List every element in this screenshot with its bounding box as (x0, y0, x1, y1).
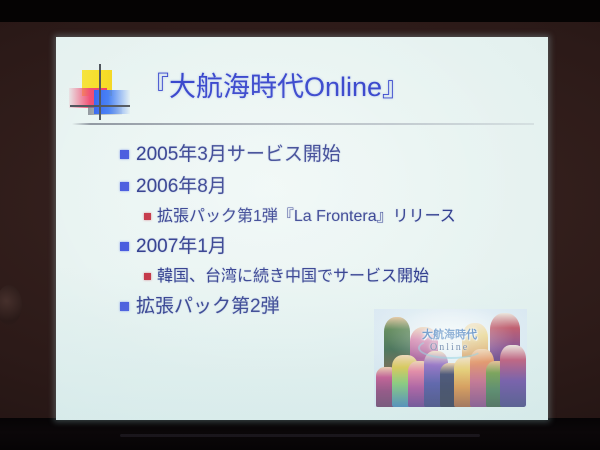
slide-decoration-logo (68, 62, 140, 124)
desk-edge-highlight (120, 434, 480, 437)
bullet-square-icon (120, 302, 129, 311)
sub-bullet-label: 韓国、台湾に続き中国でサービス開始 (157, 263, 429, 291)
vertical-rule-icon (99, 64, 101, 120)
bullet-square-icon (120, 242, 129, 251)
sub-bullet-square-icon (144, 273, 151, 280)
presentation-slide: 『大航海時代Online』 2005年3月サービス開始 2006年8月 拡張パッ… (56, 37, 548, 420)
bullet-item: 2006年8月 (56, 171, 548, 203)
game-key-art-image: 大航海時代 Online (374, 309, 527, 407)
bullet-label: 2007年1月 (136, 231, 227, 263)
horizontal-rule-icon (70, 105, 130, 107)
bullet-label: 2006年8月 (136, 171, 227, 203)
slide-title-row: 『大航海時代Online』 (56, 62, 548, 124)
bullet-square-icon (120, 150, 129, 159)
bullet-label: 2005年3月サービス開始 (136, 139, 341, 171)
key-art-logo-japanese: 大航海時代 (422, 329, 477, 341)
title-underline-divider (72, 123, 534, 125)
key-art-logo-online: Online (430, 342, 469, 353)
slide-bullet-list: 2005年3月サービス開始 2006年8月 拡張パック第1弾『La Fronte… (56, 139, 548, 323)
photograph-of-projection-screen: 『大航海時代Online』 2005年3月サービス開始 2006年8月 拡張パッ… (0, 0, 600, 450)
bullet-item: 2005年3月サービス開始 (56, 139, 548, 171)
ceiling-dark-band (0, 0, 600, 24)
sub-bullet-square-icon (144, 213, 151, 220)
slide-title: 『大航海時代Online』 (142, 65, 409, 109)
bullet-square-icon (120, 182, 129, 191)
sub-bullet-item: 拡張パック第1弾『La Frontera』リリース (56, 203, 548, 231)
character-figure (500, 345, 526, 407)
bullet-label: 拡張パック第2弾 (136, 291, 280, 323)
sub-bullet-label: 拡張パック第1弾『La Frontera』リリース (157, 203, 456, 231)
bullet-item: 2007年1月 (56, 231, 548, 263)
sub-bullet-item: 韓国、台湾に続き中国でサービス開始 (56, 263, 548, 291)
